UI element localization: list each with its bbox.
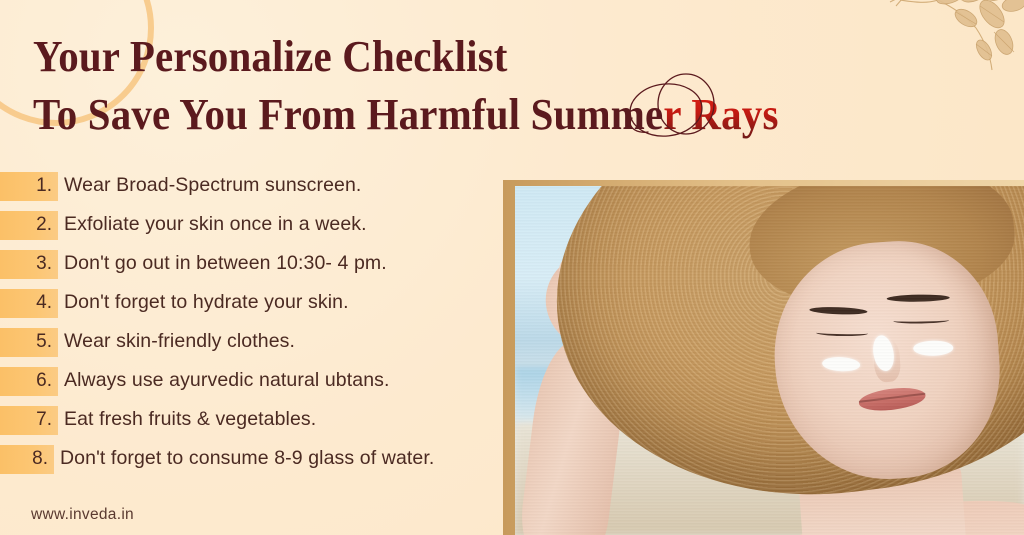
list-item: 8. Don't forget to consume 8-9 glass of …: [0, 445, 500, 484]
list-item-number: 3.: [0, 250, 58, 279]
eyebrow-left: [809, 306, 867, 315]
list-item-number: 4.: [0, 289, 58, 318]
list-item-number: 1.: [0, 172, 58, 201]
headline-line-1: Your Personalize Checklist: [33, 30, 851, 84]
eye-right: [893, 317, 949, 324]
headline-line-2-plain: To Save You From Harmful Summe: [33, 90, 663, 139]
list-item-number: 8.: [0, 445, 54, 474]
photo-frame: [503, 180, 1024, 535]
list-item-text: Don't go out in between 10:30- 4 pm.: [64, 252, 387, 275]
list-item-number: 2.: [0, 211, 58, 240]
headline-line-2-accent: r Rays: [663, 90, 778, 139]
headline-line-2: To Save You From Harmful Summer Rays: [33, 88, 851, 142]
list-item: 6. Always use ayurvedic natural ubtans.: [0, 367, 500, 406]
list-item: 2. Exfoliate your skin once in a week.: [0, 211, 500, 250]
checklist: 1. Wear Broad-Spectrum sunscreen. 2. Exf…: [0, 172, 500, 484]
list-item-text: Eat fresh fruits & vegetables.: [64, 408, 316, 431]
list-item: 3. Don't go out in between 10:30- 4 pm.: [0, 250, 500, 289]
list-item: 7. Eat fresh fruits & vegetables.: [0, 406, 500, 445]
list-item-text: Exfoliate your skin once in a week.: [64, 213, 367, 236]
sunscreen-smear-cheek-left: [821, 356, 860, 372]
list-item-text: Don't forget to consume 8-9 glass of wat…: [60, 447, 434, 470]
eye-left: [815, 330, 867, 337]
list-item-number: 7.: [0, 406, 58, 435]
list-item: 4. Don't forget to hydrate your skin.: [0, 289, 500, 328]
poster-canvas: Your Personalize Checklist To Save You F…: [0, 0, 1024, 535]
list-item-number: 6.: [0, 367, 58, 396]
list-item-text: Always use ayurvedic natural ubtans.: [64, 369, 390, 392]
list-item-number: 5.: [0, 328, 58, 357]
eyebrow-right: [887, 294, 950, 302]
headline-block: Your Personalize Checklist To Save You F…: [33, 30, 913, 142]
list-item: 5. Wear skin-friendly clothes.: [0, 328, 500, 367]
list-item-text: Wear Broad-Spectrum sunscreen.: [64, 174, 361, 197]
hero-photo: [515, 186, 1024, 535]
list-item-text: Don't forget to hydrate your skin.: [64, 291, 349, 314]
sunscreen-smear-cheek-right: [913, 340, 954, 356]
site-url: www.inveda.in: [31, 506, 134, 524]
list-item: 1. Wear Broad-Spectrum sunscreen.: [0, 172, 500, 211]
list-item-text: Wear skin-friendly clothes.: [64, 330, 295, 353]
